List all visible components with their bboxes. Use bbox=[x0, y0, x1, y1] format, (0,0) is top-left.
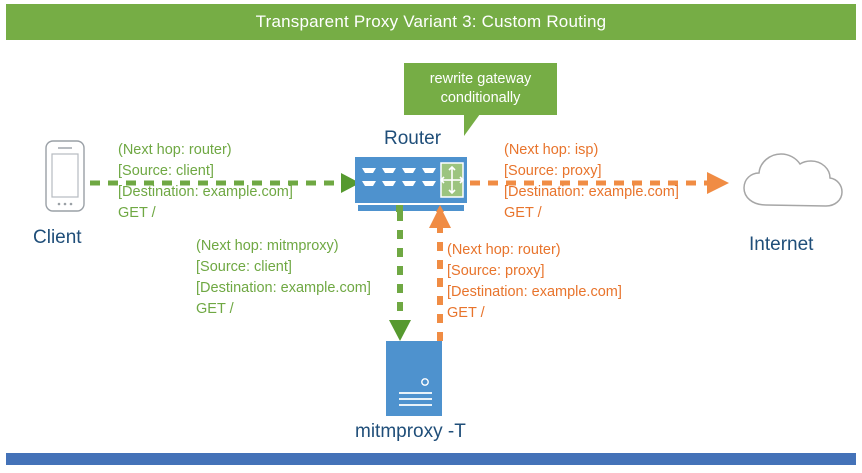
packet-label-proxy-to-router: (Next hop: router) [Source: proxy] [Dest… bbox=[447, 240, 622, 324]
packet-label-router-to-proxy: (Next hop: mitmproxy) [Source: client] [… bbox=[196, 236, 371, 320]
node-label-client: Client bbox=[33, 227, 82, 249]
diagram-canvas: Transparent Proxy Variant 3: Custom Rout… bbox=[0, 0, 862, 473]
server-icon bbox=[386, 341, 442, 416]
cloud-icon bbox=[744, 154, 842, 206]
packet-line-request: GET / bbox=[447, 303, 622, 324]
packet-line-next-hop: (Next hop: mitmproxy) bbox=[196, 236, 371, 257]
router-icon bbox=[355, 157, 467, 212]
node-label-router: Router bbox=[384, 128, 441, 150]
packet-line-destination: [Destination: example.com] bbox=[118, 182, 293, 203]
node-label-proxy: mitmproxy -T bbox=[355, 421, 466, 443]
packet-label-router-to-internet: (Next hop: isp) [Source: proxy] [Destina… bbox=[504, 140, 679, 224]
packet-line-source: [Source: proxy] bbox=[447, 261, 622, 282]
packet-line-request: GET / bbox=[196, 299, 371, 320]
smartphone-icon bbox=[46, 141, 84, 211]
title-bar: Transparent Proxy Variant 3: Custom Rout… bbox=[6, 4, 856, 40]
packet-line-source: [Source: client] bbox=[118, 161, 293, 182]
packet-line-next-hop: (Next hop: router) bbox=[447, 240, 622, 261]
packet-line-destination: [Destination: example.com] bbox=[504, 182, 679, 203]
arrow-router-to-proxy bbox=[389, 212, 411, 341]
packet-line-destination: [Destination: example.com] bbox=[196, 278, 371, 299]
packet-line-source: [Source: client] bbox=[196, 257, 371, 278]
packet-line-destination: [Destination: example.com] bbox=[447, 282, 622, 303]
packet-label-client-to-router: (Next hop: router) [Source: client] [Des… bbox=[118, 140, 293, 224]
page-title: Transparent Proxy Variant 3: Custom Rout… bbox=[6, 4, 856, 40]
bottom-bar bbox=[6, 453, 856, 465]
packet-line-source: [Source: proxy] bbox=[504, 161, 679, 182]
callout-line-2: conditionally bbox=[441, 89, 521, 108]
node-label-internet: Internet bbox=[749, 234, 813, 256]
packet-line-next-hop: (Next hop: isp) bbox=[504, 140, 679, 161]
callout-rewrite-gateway: rewrite gateway conditionally bbox=[404, 63, 557, 115]
callout-line-1: rewrite gateway bbox=[430, 70, 532, 89]
callout-tail bbox=[464, 114, 480, 136]
packet-line-next-hop: (Next hop: router) bbox=[118, 140, 293, 161]
packet-line-request: GET / bbox=[504, 203, 679, 224]
packet-line-request: GET / bbox=[118, 203, 293, 224]
callout-text: rewrite gateway conditionally bbox=[404, 63, 557, 115]
